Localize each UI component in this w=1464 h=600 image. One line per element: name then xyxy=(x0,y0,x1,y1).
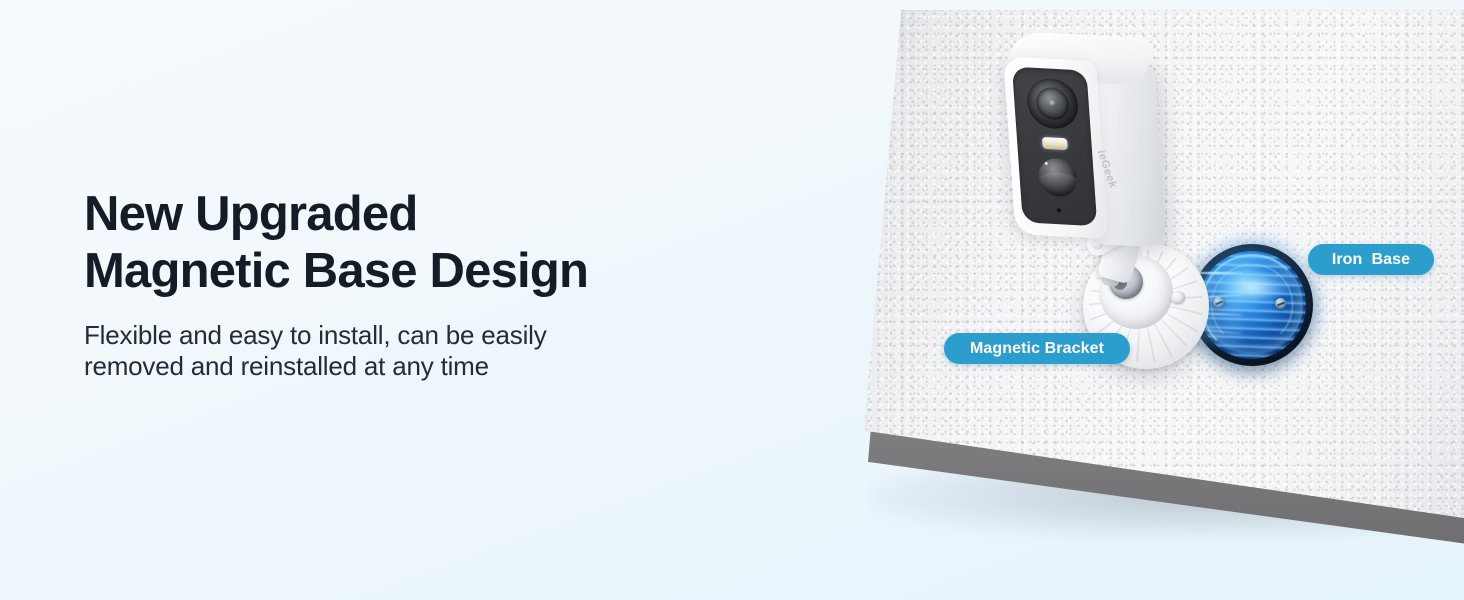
page-title: New Upgraded Magnetic Base Design xyxy=(84,186,704,300)
security-camera: ieGeek xyxy=(1000,50,1215,280)
camera-front-shell xyxy=(1003,56,1108,238)
label-iron-base: Iron Base xyxy=(1308,244,1434,275)
microphone-icon xyxy=(1057,208,1061,212)
led-spotlight-icon xyxy=(1042,137,1068,150)
indicator-dot xyxy=(1045,162,1048,165)
camera-body: ieGeek xyxy=(1003,56,1165,245)
bracket-stud xyxy=(1171,291,1185,304)
label-magnetic-bracket: Magnetic Bracket xyxy=(944,333,1130,364)
product-banner: New Upgraded Magnetic Base Design Flexib… xyxy=(0,0,1464,600)
pir-sensor-icon xyxy=(1037,157,1078,197)
copy-block: New Upgraded Magnetic Base Design Flexib… xyxy=(84,186,704,382)
screw-icon xyxy=(1275,298,1286,309)
page-subtitle: Flexible and easy to install, can be eas… xyxy=(84,320,704,382)
camera-faceplate xyxy=(1012,67,1097,227)
screw-icon xyxy=(1213,297,1224,308)
camera-lens-icon xyxy=(1026,77,1080,130)
product-scene: ieGeek Magnetic Bracket Iron Base xyxy=(840,0,1464,600)
